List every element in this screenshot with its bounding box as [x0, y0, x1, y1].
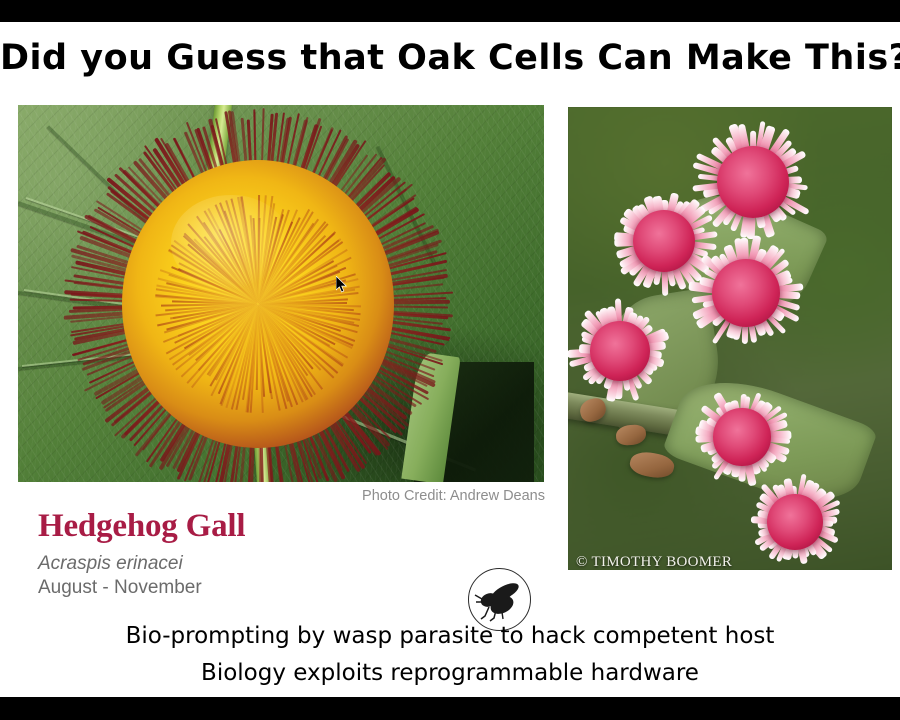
pink-galls-photo: © TIMOTHY BOOMER WILDMACRO.COM	[568, 107, 892, 570]
caption-block: Bio-prompting by wasp parasite to hack c…	[0, 618, 900, 693]
species-common-name: Hedgehog Gall	[38, 509, 245, 544]
gall-core	[590, 321, 650, 381]
gall-sphere	[122, 160, 394, 448]
pink-gall	[754, 481, 836, 563]
gall-core	[712, 259, 780, 327]
species-latin-name: Acraspis erinacei	[38, 553, 245, 575]
slide-content-area: Did you Guess that Oak Cells Can Make Th…	[0, 22, 900, 697]
gall-core	[713, 408, 770, 465]
caption-line-2: Biology exploits reprogrammable hardware	[0, 655, 900, 692]
pink-gall	[696, 243, 796, 343]
photo-credit-label: Photo Credit: Andrew Deans	[335, 488, 545, 504]
pink-gall	[700, 395, 784, 479]
pink-gall	[576, 307, 664, 395]
gall-highlight	[171, 195, 291, 293]
gall-core	[633, 210, 696, 273]
species-info-block: Hedgehog Gall Acraspis erinacei August -…	[38, 509, 245, 599]
slide-canvas: Did you Guess that Oak Cells Can Make Th…	[0, 0, 900, 720]
letterbox-top	[0, 0, 900, 22]
hedgehog-gall-photo	[18, 105, 544, 482]
watermark-line-1: © TIMOTHY BOOMER	[576, 554, 732, 570]
pink-gall	[700, 129, 806, 235]
caption-line-1: Bio-prompting by wasp parasite to hack c…	[0, 618, 900, 655]
gall-core	[717, 146, 789, 218]
letterbox-bottom	[0, 697, 900, 720]
species-season: August - November	[38, 577, 245, 599]
page-title: Did you Guess that Oak Cells Can Make Th…	[0, 38, 900, 78]
gall-core	[767, 494, 823, 550]
photo-watermark: © TIMOTHY BOOMER WILDMACRO.COM	[576, 554, 732, 570]
